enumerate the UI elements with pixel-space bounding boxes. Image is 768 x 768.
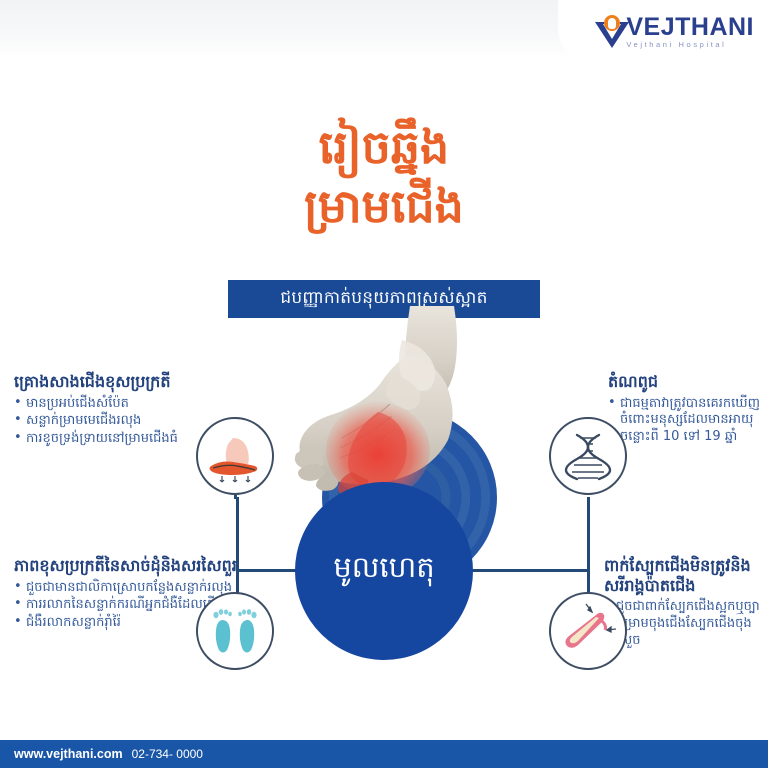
cause-block-heredity: តំណពូជ ជាធម្មតាវាត្រូវបានគេរកឃើញចំពោះមនុ…	[608, 372, 766, 447]
cause-bullet: ជួចជាពាក់ស្បែកជើងស្អកឬច្បាបម្រាមចុងជើងស្…	[604, 599, 766, 650]
flat-foot-arch-icon	[203, 424, 267, 488]
infographic-poster: VEJTHANI Vejthani Hospital រៀចឆ្នឹង ម្រា…	[0, 0, 768, 768]
cause-bullet: ជួចជាមានជាលិកាស្រោបកន្លែងសន្លាក់រលុង	[14, 580, 252, 597]
cause-icon-foot-structure[interactable]	[196, 417, 274, 495]
cause-bullet: ជាធម្មតាវាត្រូវបានគេរកឃើញចំពោះមនុស្សដែលម…	[608, 396, 766, 447]
connector-vertical-top-left	[236, 497, 239, 571]
cause-bullet: មានប្រអប់ជើងសំប៉ែត	[14, 396, 254, 413]
cause-heading: តំណពូជ	[608, 372, 766, 392]
dna-helix-icon	[557, 425, 619, 487]
cause-heading: គ្រោងសាងជើងខុសប្រក្រតី	[14, 372, 254, 392]
center-node-label: មូលហេតុ	[333, 550, 434, 592]
cause-bullet-list: ជួចជាពាក់ស្បែកជើងស្អកឬច្បាបម្រាមចុងជើងស្…	[604, 599, 766, 650]
logo-name: VEJTHANI	[626, 15, 754, 40]
footer-website[interactable]: www.vejthani.com	[14, 747, 123, 761]
cause-heading: ភាពខុសប្រក្រតីនៃសាច់ដុំនិងសរសៃពួរ	[14, 556, 252, 576]
high-heel-shoe-icon	[556, 599, 620, 663]
two-footprints-icon	[204, 600, 266, 662]
cause-icon-muscle-tendon[interactable]	[196, 592, 274, 670]
cause-icon-heredity[interactable]	[549, 417, 627, 495]
logo-subtitle: Vejthani Hospital	[626, 41, 754, 49]
center-node: មូលហេតុ	[295, 482, 473, 660]
connector-center-top-right	[462, 569, 590, 572]
title-line-1: រៀចឆ្នឹង	[0, 118, 768, 177]
connector-stem-top-left	[234, 495, 237, 499]
cause-heading: ពាក់ស្បែកជើងមិនត្រូវនិងសរីរាង្គប៉ាតជើង	[604, 556, 766, 595]
vejthani-v-logo-icon	[595, 15, 629, 49]
vejthani-logo[interactable]: VEJTHANI Vejthani Hospital	[594, 10, 754, 54]
title-line-2: ម្រាមជើង	[0, 177, 768, 236]
footer-phone[interactable]: 02-734- 0000	[132, 747, 203, 761]
poster-title: រៀចឆ្នឹង ម្រាមជើង	[0, 118, 768, 236]
connector-vertical-top-right	[587, 497, 590, 571]
cause-icon-footwear[interactable]	[549, 592, 627, 670]
cause-block-footwear: ពាក់ស្បែកជើងមិនត្រូវនិងសរីរាង្គប៉ាតជើង ជ…	[604, 556, 766, 651]
cause-bullet-list: ជាធម្មតាវាត្រូវបានគេរកឃើញចំពោះមនុស្សដែលម…	[608, 396, 766, 447]
footer-bar: www.vejthani.com 02-734- 0000	[0, 740, 768, 768]
